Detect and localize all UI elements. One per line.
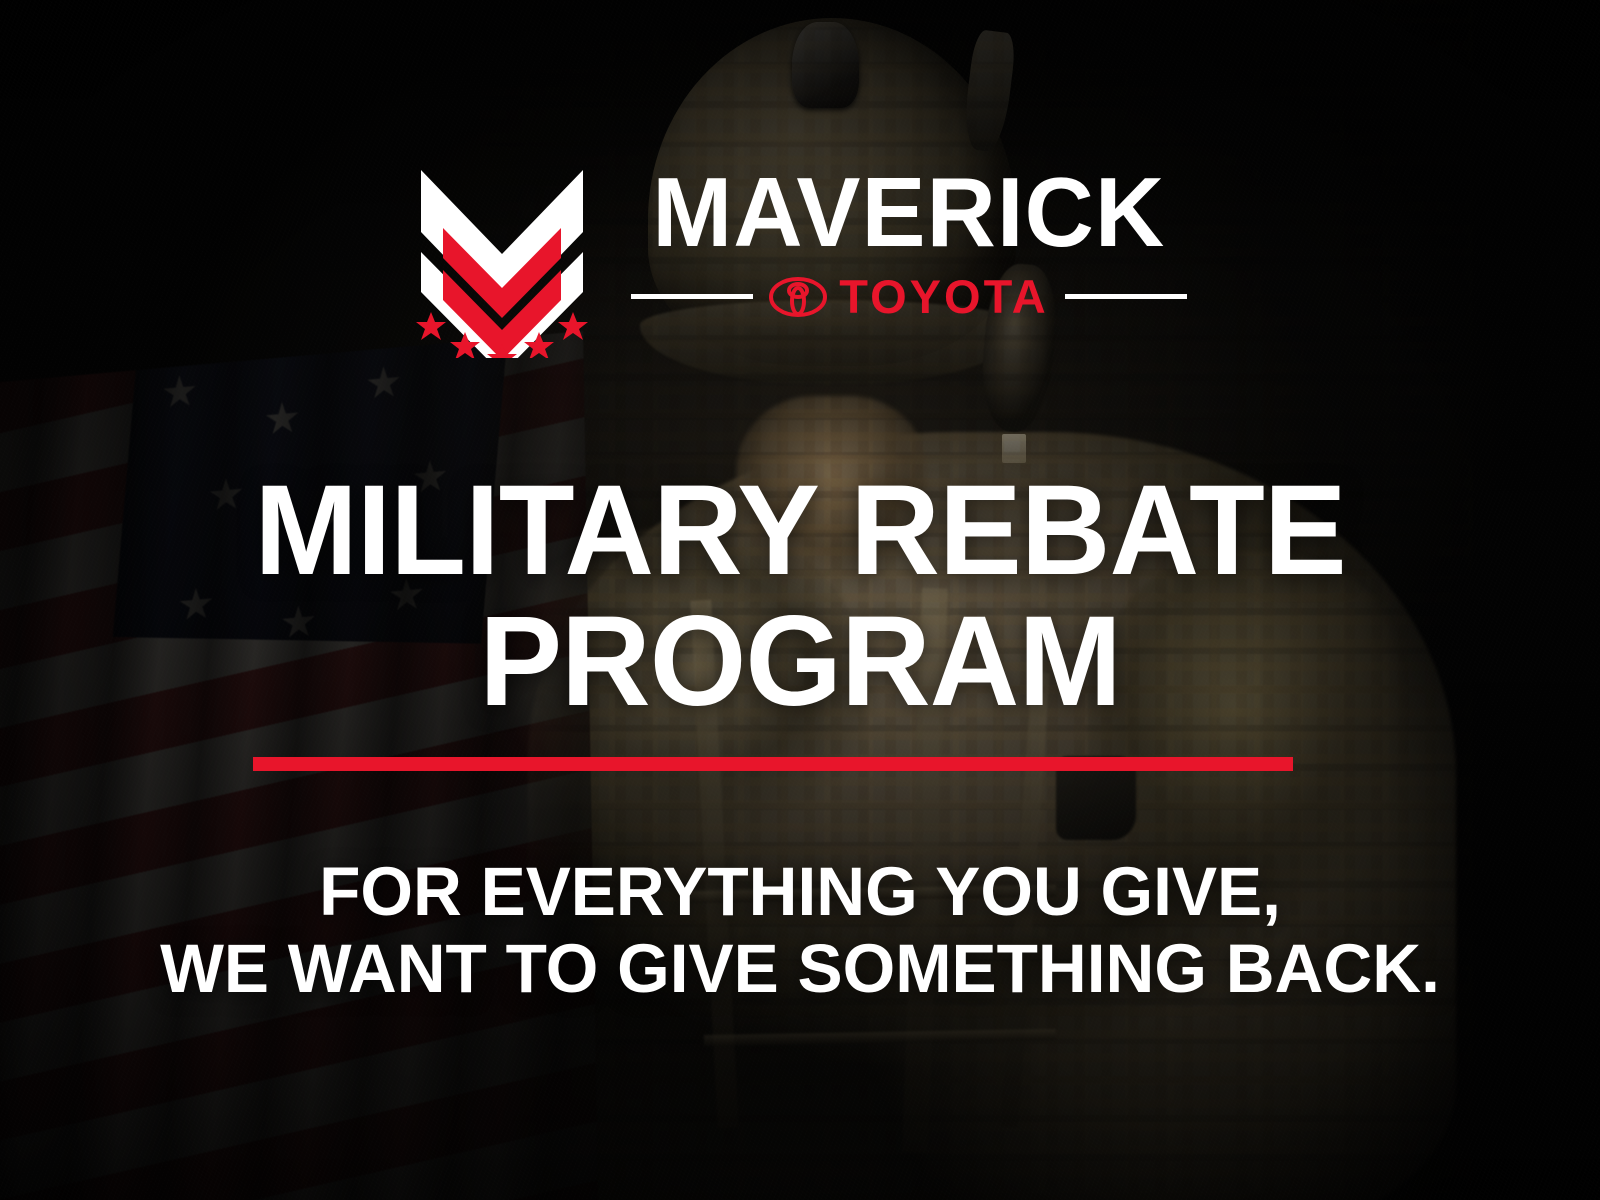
toyota-rule-right — [1065, 294, 1187, 299]
page-subtitle: FOR EVERYTHING YOU GIVE, WE WANT TO GIVE… — [16, 853, 1584, 1008]
wordmark-column: MAVERICK TOYOTA — [631, 160, 1187, 320]
subhead-line-1: FOR EVERYTHING YOU GIVE, — [16, 853, 1584, 930]
banner-content: MAVERICK TOYOTA MILITAR — [0, 0, 1600, 1200]
page-title: MILITARY REBATE PROGRAM — [24, 466, 1576, 727]
toyota-wordmark: TOYOTA — [839, 273, 1049, 320]
red-divider — [253, 757, 1293, 771]
military-rebate-banner: MAVERICK TOYOTA MILITAR — [0, 0, 1600, 1200]
headline-line-2: PROGRAM — [24, 597, 1576, 728]
subhead-line-2: WE WANT TO GIVE SOMETHING BACK. — [16, 930, 1584, 1007]
toyota-lockup: TOYOTA — [769, 273, 1049, 320]
toyota-oval-icon — [769, 277, 827, 317]
chevron-rank-badge-icon — [413, 166, 591, 358]
brand-wordmark: MAVERICK — [653, 166, 1166, 259]
toyota-rule-left — [631, 294, 753, 299]
brand-lockup: MAVERICK TOYOTA — [0, 160, 1600, 358]
toyota-row: TOYOTA — [631, 273, 1187, 320]
headline-line-1: MILITARY REBATE — [24, 466, 1576, 597]
